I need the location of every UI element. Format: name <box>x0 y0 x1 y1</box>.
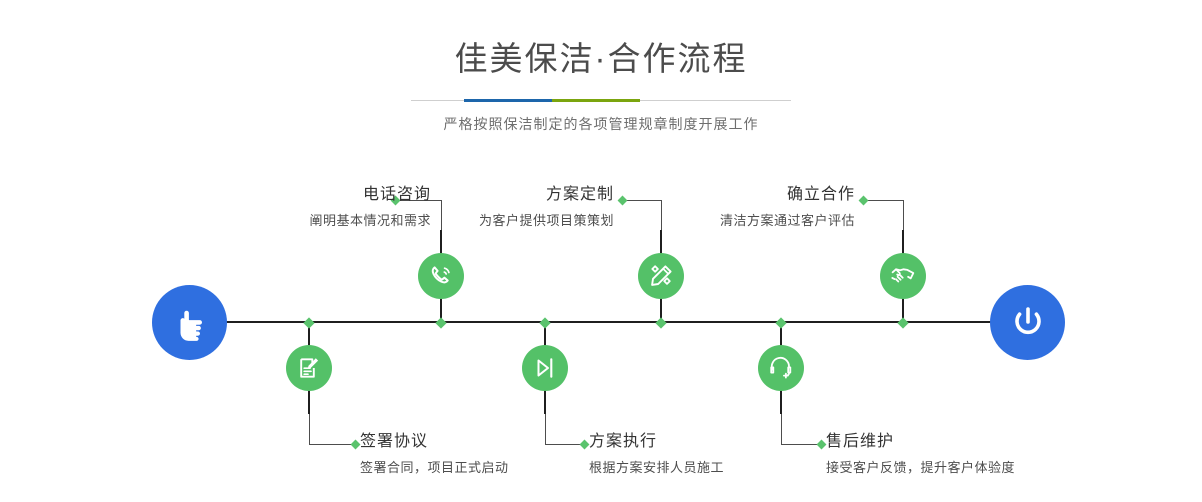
label-desc-step-2: 签署合同，项目正式启动 <box>360 461 620 474</box>
axis-marker-step-5 <box>897 317 908 328</box>
icon-bubble-step-2[interactable] <box>286 345 332 391</box>
timeline: 电话咨询 阐明基本情况和需求 <box>0 0 1202 502</box>
label-step-2: 签署协议 签署合同，项目正式启动 <box>360 434 620 474</box>
timeline-end-node[interactable] <box>990 285 1065 360</box>
label-desc-step-6: 接受客户反馈，提升客户体验度 <box>826 461 1106 474</box>
label-title-step-3: 方案定制 <box>411 187 614 203</box>
axis-marker-step-4 <box>539 317 550 328</box>
label-title-step-4: 方案执行 <box>589 434 849 450</box>
icon-bubble-step-4[interactable] <box>522 345 568 391</box>
label-step-3: 方案定制 为客户提供项目策策划 <box>411 187 614 227</box>
label-title-step-6: 售后维护 <box>826 434 1106 450</box>
axis-marker-step-2 <box>303 317 314 328</box>
label-step-4: 方案执行 根据方案安排人员施工 <box>589 434 849 474</box>
label-desc-step-4: 根据方案安排人员施工 <box>589 461 849 474</box>
label-title-step-1: 电话咨询 <box>191 187 431 203</box>
pointing-hand-icon <box>170 303 210 343</box>
label-step-1: 电话咨询 阐明基本情况和需求 <box>191 187 431 227</box>
icon-bubble-step-6[interactable] <box>758 345 804 391</box>
icon-bubble-step-1[interactable] <box>418 253 464 299</box>
axis-marker-step-1 <box>435 317 446 328</box>
icon-bubble-step-5[interactable] <box>880 253 926 299</box>
label-step-6: 售后维护 接受客户反馈，提升客户体验度 <box>826 434 1106 474</box>
process-flow-infographic: 佳美保洁·合作流程 严格按照保洁制定的各项管理规章制度开展工作 <box>0 0 1202 502</box>
label-desc-step-5: 清洁方案通过客户评估 <box>653 214 855 227</box>
label-desc-step-3: 为客户提供项目策策划 <box>411 214 614 227</box>
document-edit-icon <box>296 355 322 381</box>
power-button-icon <box>1007 302 1049 344</box>
label-step-5: 确立合作 清洁方案通过客户评估 <box>653 187 855 227</box>
play-forward-icon <box>532 355 558 381</box>
axis-marker-step-6 <box>775 317 786 328</box>
timeline-start-node[interactable] <box>152 285 227 360</box>
axis-marker-step-3 <box>655 317 666 328</box>
phone-call-icon <box>428 263 454 289</box>
icon-bubble-step-3[interactable] <box>638 253 684 299</box>
label-desc-step-1: 阐明基本情况和需求 <box>191 214 431 227</box>
pencil-ruler-icon <box>648 263 674 289</box>
customer-service-add-icon <box>768 355 794 381</box>
label-title-step-5: 确立合作 <box>653 187 855 203</box>
handshake-icon <box>890 263 916 289</box>
